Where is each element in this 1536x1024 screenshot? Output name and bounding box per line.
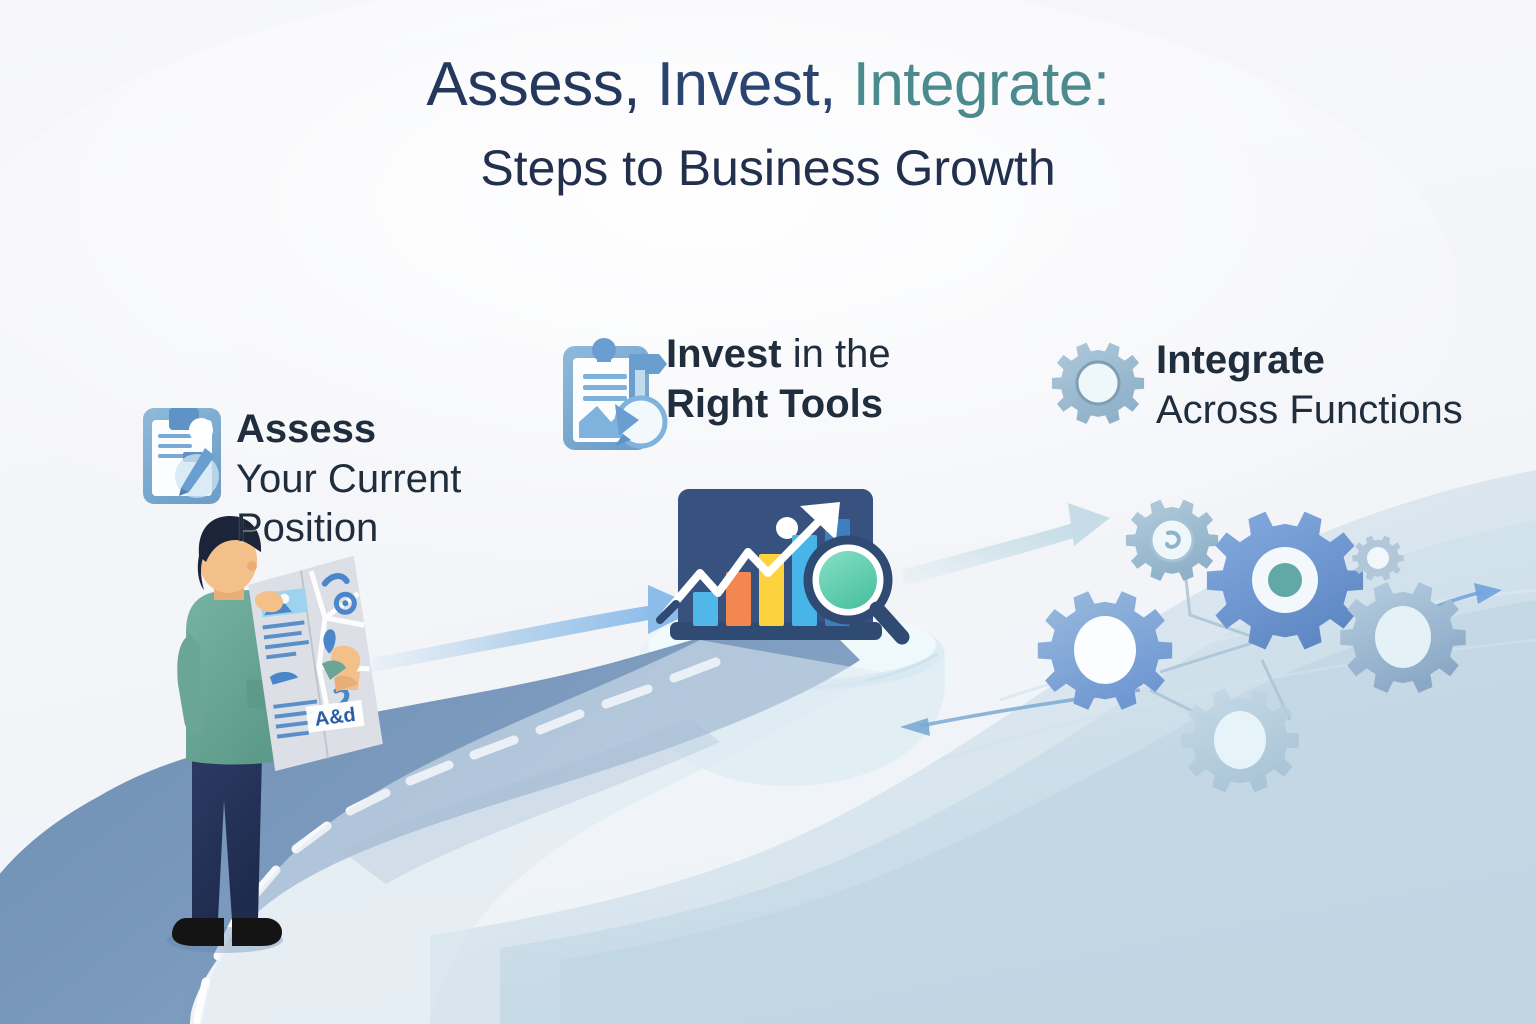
step-integrate-line2: Across Functions bbox=[1156, 386, 1463, 436]
step-assess-line2: Your Current bbox=[236, 455, 461, 505]
step-assess: Assess Your Current Position bbox=[140, 405, 461, 554]
step-invest-icon-slot bbox=[560, 330, 652, 448]
step-assess-icon-slot bbox=[140, 405, 222, 509]
step-assess-title: Assess bbox=[236, 405, 461, 455]
step-integrate-title: Integrate bbox=[1156, 336, 1463, 386]
step-invest-title: Invest bbox=[666, 332, 782, 376]
step-integrate-label: Integrate Across Functions bbox=[1156, 336, 1463, 435]
bar-1 bbox=[693, 592, 718, 626]
step-invest-label: Invest in the Right Tools bbox=[666, 330, 891, 429]
step-invest: Invest in the Right Tools bbox=[560, 330, 891, 448]
bar-chart-magnifier-icon bbox=[660, 489, 902, 640]
step-assess-line3: Position bbox=[236, 504, 461, 554]
step-invest-line2: Right Tools bbox=[666, 380, 891, 430]
step-integrate: Integrate Across Functions bbox=[1050, 336, 1463, 435]
step-assess-label: Assess Your Current Position bbox=[236, 405, 461, 554]
step-invest-inline: in the bbox=[782, 332, 891, 376]
step-integrate-icon-slot bbox=[1050, 336, 1142, 426]
infographic-canvas: A&d bbox=[0, 0, 1536, 1024]
